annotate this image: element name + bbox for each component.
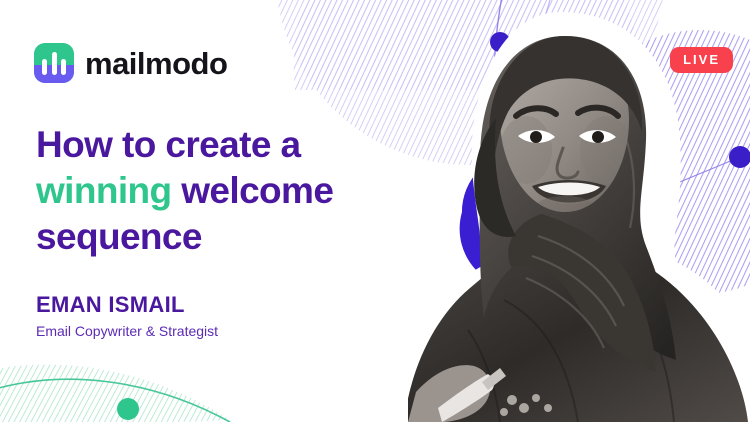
purple-curve-top: [494, 0, 540, 250]
portrait-face: [488, 40, 648, 230]
green-dot-bottom: [117, 398, 139, 420]
speaker-name: EMAN ISMAIL: [36, 292, 218, 317]
hatched-area-bottom-left: [0, 365, 230, 422]
brand-logo[interactable]: mailmodo: [34, 43, 227, 83]
portrait-hijab: [480, 36, 676, 372]
portrait-body: [408, 236, 748, 422]
portrait-hand-with-pen: [408, 365, 552, 422]
headline-line-1: How to create a: [36, 124, 300, 165]
portrait-halo: [408, 12, 750, 422]
purple-dot-right: [729, 146, 750, 168]
purple-curve-top-2: [530, 0, 575, 300]
green-curve-bottom: [0, 379, 230, 422]
logo-bar-2: [52, 52, 57, 75]
headline-accent-word: winning: [36, 170, 172, 211]
webinar-promo-banner: mailmodo How to create a winning welcome…: [0, 0, 750, 422]
mailmodo-logo-icon: [34, 43, 74, 83]
purple-line-right: [600, 155, 745, 215]
portrait-hijab-front: [474, 36, 642, 237]
headline-line-3: sequence: [36, 216, 202, 257]
brand-wordmark: mailmodo: [85, 48, 227, 79]
purple-dot-top: [490, 32, 510, 52]
speaker-role: Email Copywriter & Strategist: [36, 323, 218, 340]
headline-line-2-rest: welcome: [172, 170, 334, 211]
logo-bar-1: [42, 59, 47, 75]
status-badge-live: LIVE: [670, 47, 733, 73]
logo-bar-3: [61, 59, 66, 75]
page-title: How to create a winning welcome sequence: [36, 122, 436, 260]
blue-blob-with-squiggles: [460, 152, 582, 272]
speaker-block: EMAN ISMAIL Email Copywriter & Strategis…: [36, 292, 218, 340]
